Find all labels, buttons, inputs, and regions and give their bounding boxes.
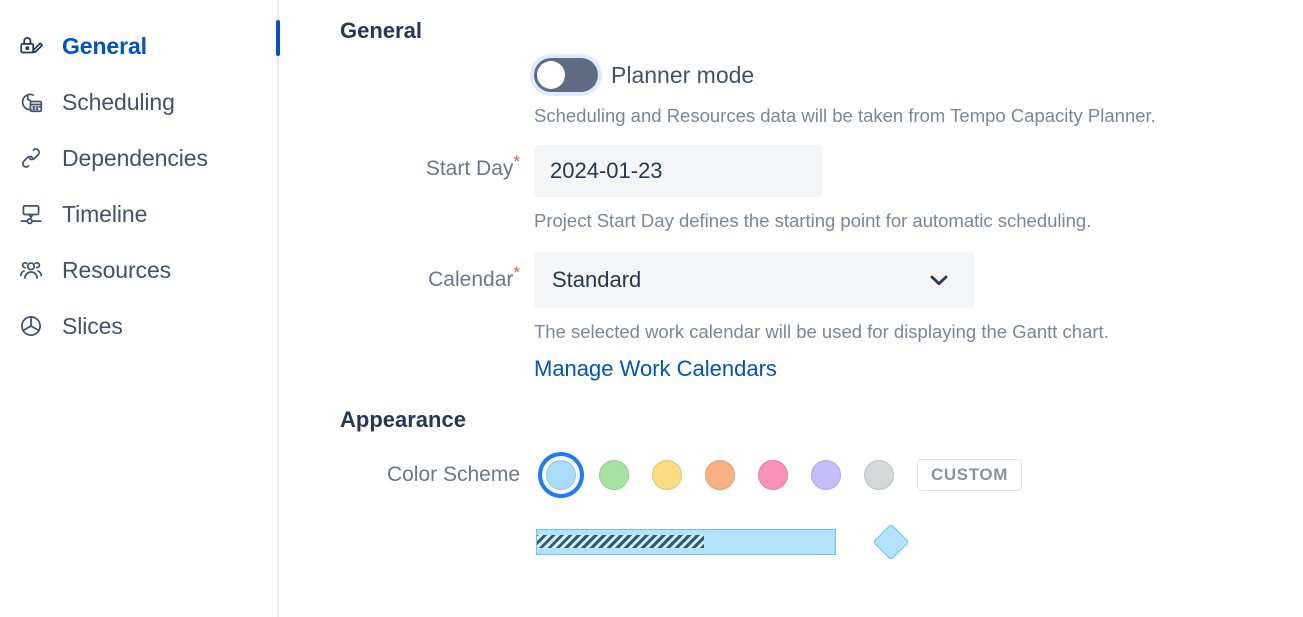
toggle-knob (537, 61, 565, 89)
planner-mode-toggle-row: Planner mode (534, 58, 1303, 92)
gantt-bar-preview (536, 529, 836, 555)
swatch-dot (864, 460, 894, 490)
sidebar-item-label: Dependencies (62, 145, 208, 172)
planner-mode-label: Planner mode (611, 62, 754, 89)
calendar-field: Standard The selected work calendar will… (534, 252, 1303, 382)
sidebar-item-label: Slices (62, 313, 123, 340)
start-day-field: Project Start Day defines the starting p… (534, 145, 1303, 232)
diamond-milestone-icon (873, 524, 910, 561)
color-swatch-orange[interactable] (693, 451, 746, 499)
start-day-label-text: Start Day (426, 157, 514, 180)
swatch-dot (652, 460, 682, 490)
calendar-select[interactable]: Standard (534, 252, 974, 308)
link-chain-icon (16, 143, 46, 173)
gantt-progress-fill (537, 535, 704, 548)
swatch-dot (811, 460, 841, 490)
color-swatch-gray[interactable] (852, 451, 905, 499)
lock-edit-icon (16, 31, 46, 61)
sidebar-item-slices[interactable]: Slices (0, 298, 279, 354)
calendar-required-marker: * (513, 263, 520, 282)
calendar-row: Calendar* Standard The selected work cal… (279, 252, 1303, 382)
calendar-selected-value: Standard (552, 267, 641, 293)
settings-sidebar: General Scheduling Depend (0, 0, 279, 617)
appearance-section-heading: Appearance (340, 407, 1303, 433)
color-swatch-yellow[interactable] (640, 451, 693, 499)
sidebar-item-resources[interactable]: Resources (0, 242, 279, 298)
planner-mode-row: Planner mode Scheduling and Resources da… (279, 58, 1303, 127)
color-swatch-green[interactable] (587, 451, 640, 499)
color-scheme-row: Color Scheme CUSTOM (279, 451, 1303, 555)
sidebar-item-label: Scheduling (62, 89, 175, 116)
swatch-dot (546, 460, 576, 490)
color-swatch-list: CUSTOM (534, 451, 1303, 499)
planner-mode-toggle[interactable] (534, 58, 598, 92)
color-swatch-blue[interactable] (534, 451, 587, 499)
timeline-icon (16, 199, 46, 229)
manage-work-calendars-link[interactable]: Manage Work Calendars (534, 356, 777, 382)
people-group-icon (16, 255, 46, 285)
start-day-row: Start Day* Project Start Day defines the… (279, 145, 1303, 232)
start-day-required-marker: * (513, 152, 520, 171)
general-section-heading: General (340, 18, 1303, 44)
calendar-label-text: Calendar (428, 268, 513, 291)
sidebar-item-label: General (62, 33, 147, 60)
sidebar-item-label: Timeline (62, 201, 147, 228)
sidebar-item-dependencies[interactable]: Dependencies (0, 130, 279, 186)
swatch-dot (758, 460, 788, 490)
swatch-dot (705, 460, 735, 490)
clock-calendar-icon (16, 87, 46, 117)
gantt-preview-row (536, 529, 1303, 555)
settings-page: General Scheduling Depend (0, 0, 1303, 617)
start-day-input[interactable] (534, 145, 822, 197)
sidebar-item-timeline[interactable]: Timeline (0, 186, 279, 242)
planner-mode-field: Planner mode Scheduling and Resources da… (534, 58, 1303, 127)
chevron-down-icon (926, 267, 952, 293)
sidebar-item-general[interactable]: General (0, 18, 279, 74)
color-scheme-field: CUSTOM (534, 451, 1303, 555)
color-scheme-label: Color Scheme (279, 451, 534, 499)
custom-color-button[interactable]: CUSTOM (917, 459, 1022, 491)
color-swatch-pink[interactable] (746, 451, 799, 499)
planner-mode-helper: Scheduling and Resources data will be ta… (534, 104, 1303, 127)
sidebar-item-scheduling[interactable]: Scheduling (0, 74, 279, 130)
swatch-dot (599, 460, 629, 490)
pie-slices-icon (16, 311, 46, 341)
start-day-label: Start Day* (279, 145, 534, 193)
calendar-label: Calendar* (279, 252, 534, 308)
calendar-helper: The selected work calendar will be used … (534, 320, 1303, 343)
settings-content: General Planner mode Scheduling and Reso… (279, 0, 1303, 617)
sidebar-item-label: Resources (62, 257, 171, 284)
start-day-helper: Project Start Day defines the starting p… (534, 209, 1303, 232)
color-swatch-purple[interactable] (799, 451, 852, 499)
